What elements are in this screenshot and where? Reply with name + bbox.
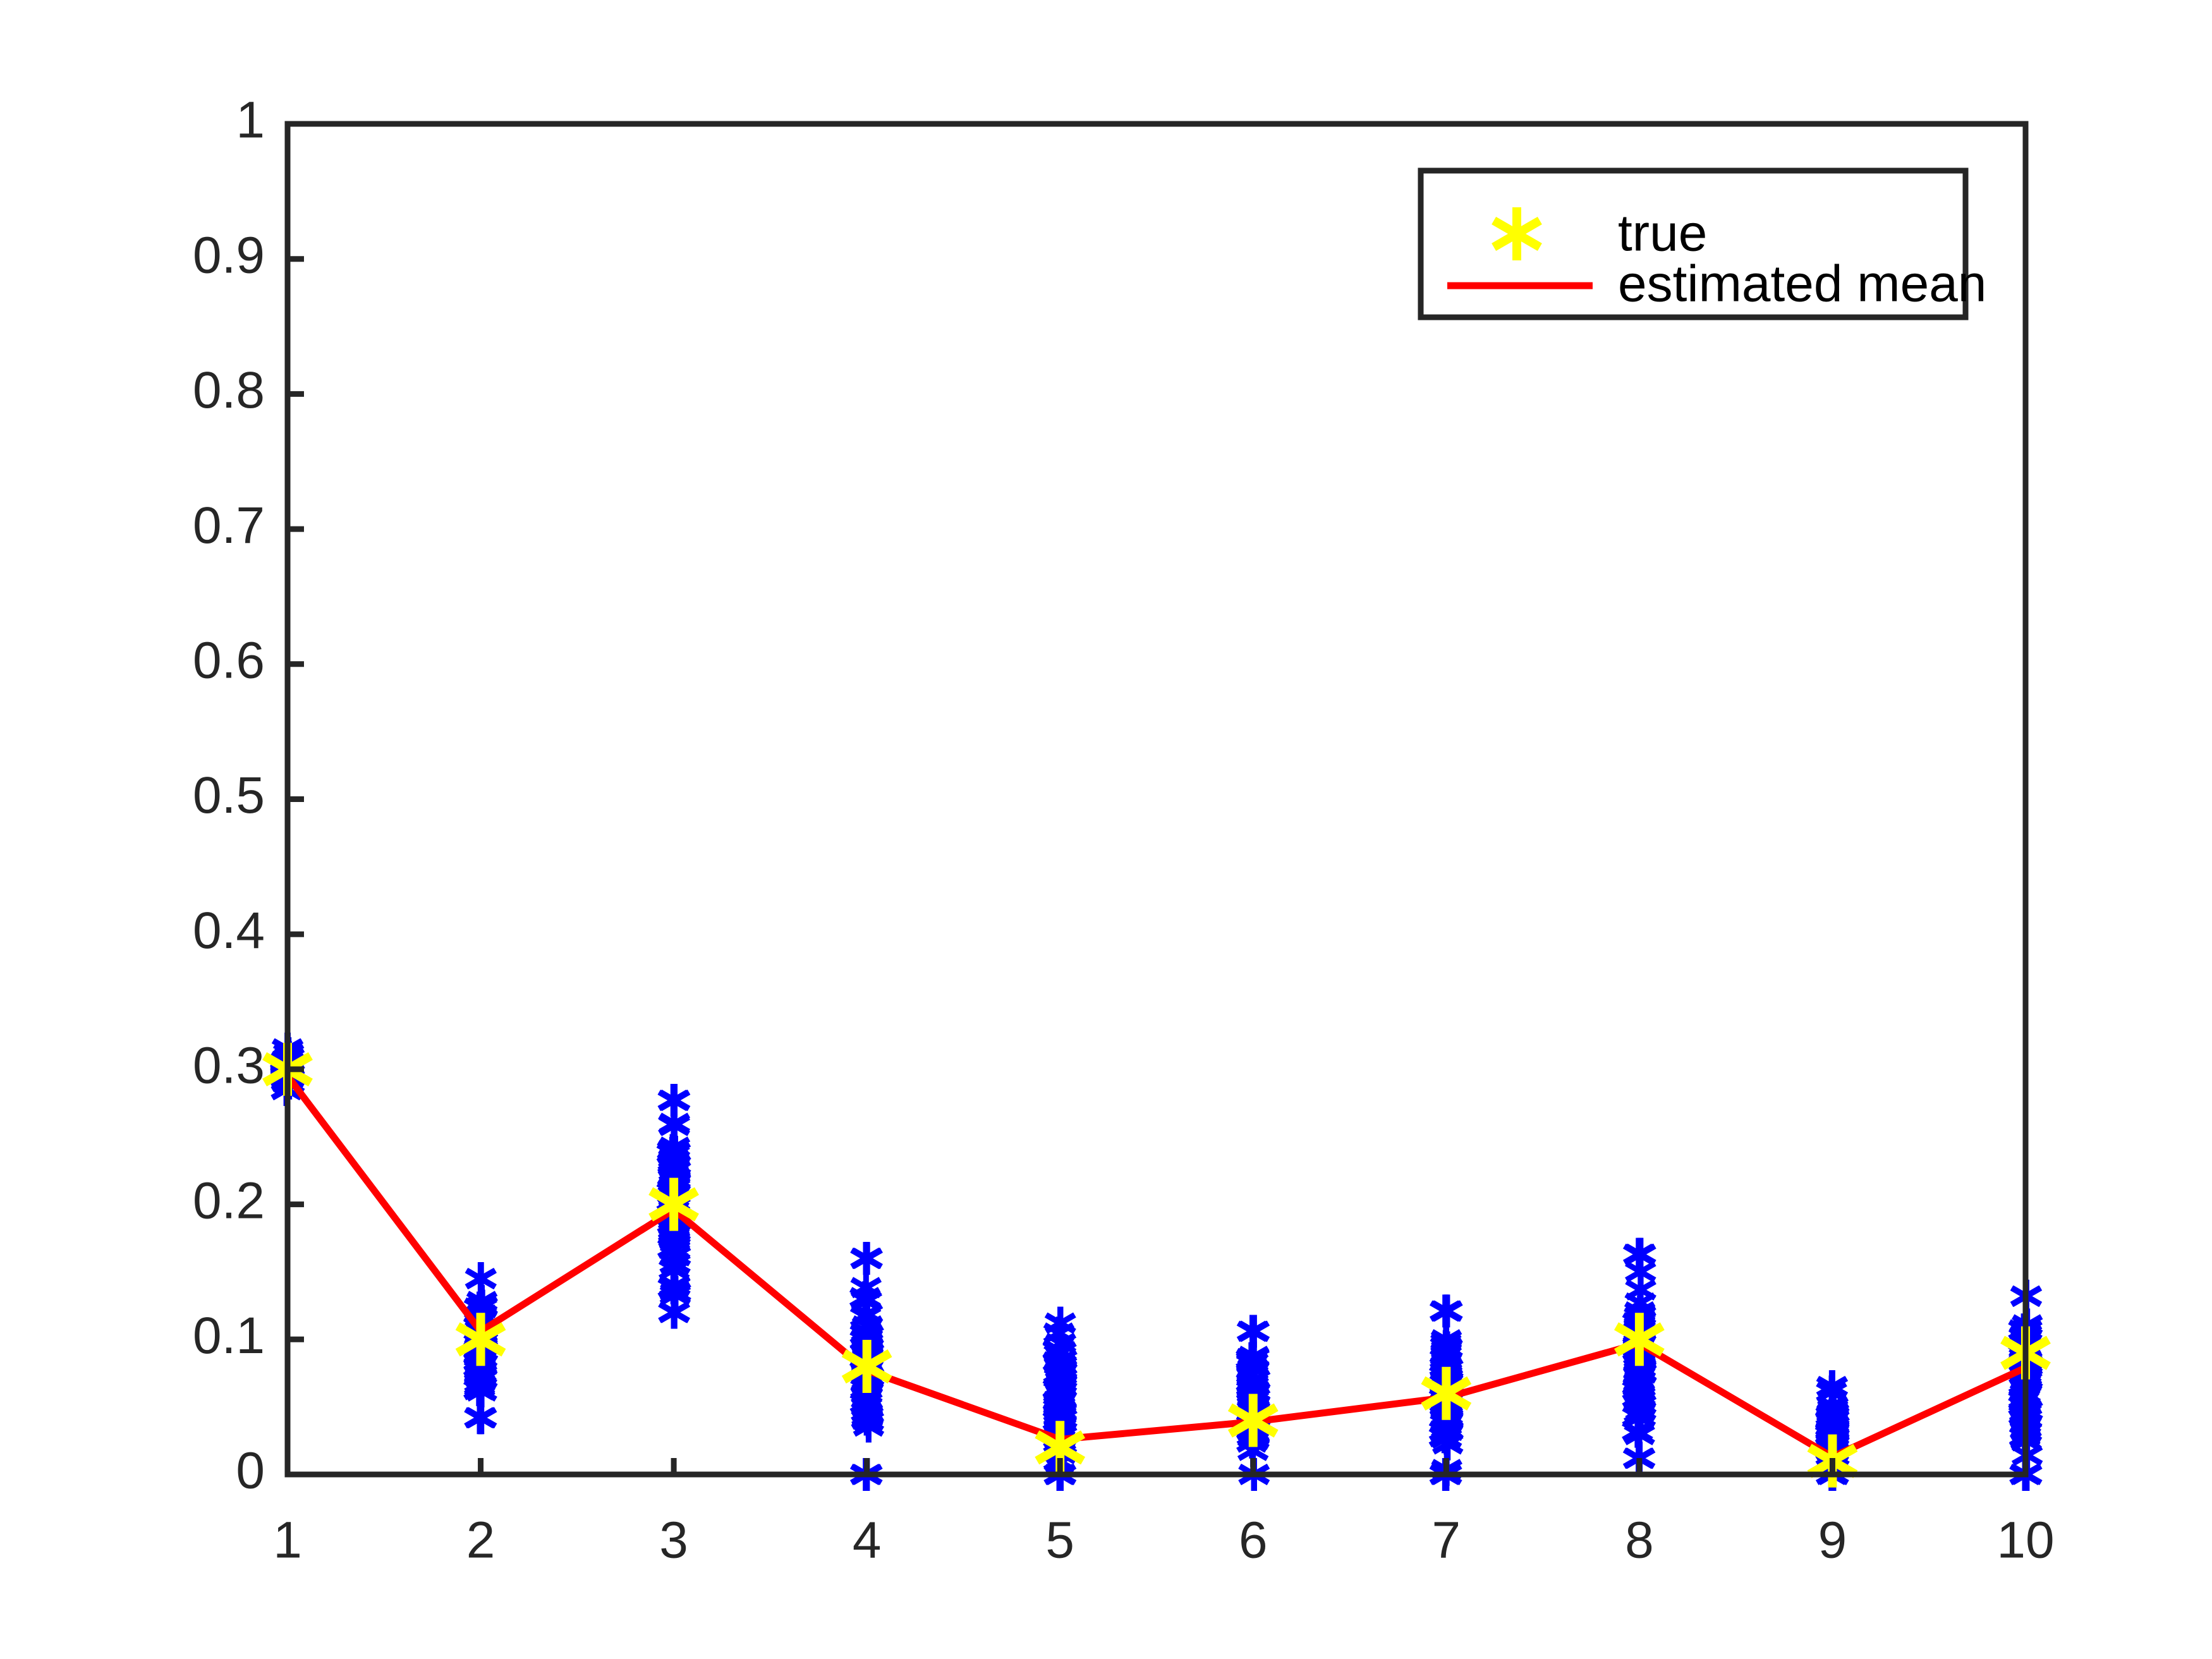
x-tick-label: 7 [1432,1512,1461,1569]
x-tick-label: 8 [1625,1512,1654,1569]
scatter-plot: 00.10.20.30.40.50.60.70.80.91 1234567891… [0,0,2212,1659]
x-tick-label: 2 [466,1512,495,1569]
legend[interactable]: true estimated mean [1421,171,1986,317]
x-tick-label: 5 [1045,1512,1074,1569]
x-tick-label: 6 [1239,1512,1268,1569]
y-tick-label: 0.7 [193,497,265,554]
x-tick-label: 4 [853,1512,882,1569]
y-tick-label: 0.2 [193,1172,265,1229]
y-tick-label: 1 [236,92,265,149]
y-tick-label: 0.4 [193,902,265,959]
x-tick-label: 9 [1818,1512,1847,1569]
legend-label-estimated-mean: estimated mean [1618,255,1986,313]
y-tick-label: 0.9 [193,226,265,284]
figure-container: 00.10.20.30.40.50.60.70.80.91 1234567891… [0,0,2212,1659]
y-tick-label: 0.8 [193,362,265,419]
x-tick-label: 1 [273,1512,302,1569]
y-tick-label: 0.5 [193,767,265,824]
y-tick-label: 0.6 [193,631,265,689]
x-tick-label: 10 [1996,1512,2054,1569]
x-tick-label: 3 [659,1512,688,1569]
y-tick-label: 0.1 [193,1307,265,1364]
y-tick-label: 0 [236,1442,265,1500]
y-tick-label: 0.3 [193,1037,265,1095]
legend-label-true: true [1618,205,1707,262]
